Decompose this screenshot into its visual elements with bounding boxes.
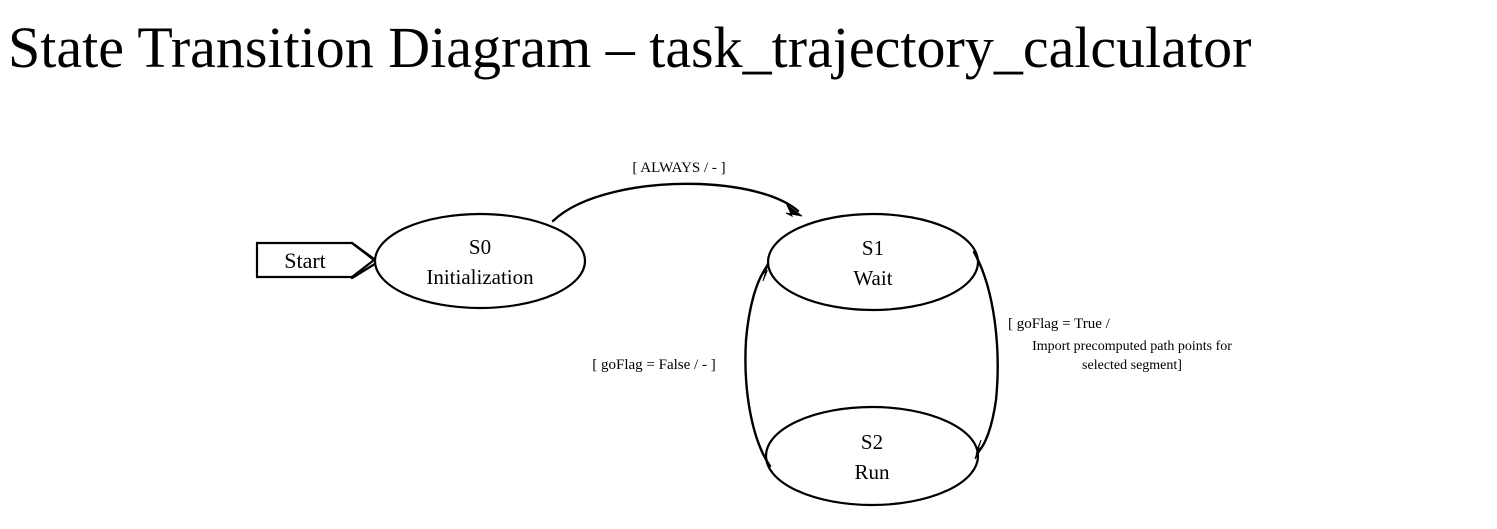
state-node-s2-shape <box>766 407 978 505</box>
state-diagram-page: State Transition Diagram – task_trajecto… <box>0 0 1497 529</box>
state-node-s2-name: S2 <box>861 430 883 454</box>
state-node-s0-shape <box>375 214 585 308</box>
transition-s1-to-s2-path <box>974 252 998 453</box>
state-node-s1-description: Wait <box>853 266 892 290</box>
state-node-s0-name: S0 <box>469 235 491 259</box>
state-node-s2[interactable]: S2 Run <box>766 407 978 505</box>
transition-s2-to-s1-path <box>745 268 770 466</box>
transition-s2-to-s1-arrowhead <box>761 261 769 281</box>
transition-s2-to-s1-label: [ goFlag = False / - ] <box>592 357 715 373</box>
state-node-s0-description: Initialization <box>426 265 534 289</box>
transition-s2-to-s1[interactable]: [ goFlag = False / - ] <box>592 261 770 466</box>
transition-s0-to-s1-path <box>553 184 798 221</box>
start-node[interactable]: Start <box>257 243 374 277</box>
state-diagram-canvas: Start S0 Initialization S1 Wait S2 Run <box>0 0 1497 529</box>
state-node-s0[interactable]: S0 Initialization <box>375 214 585 308</box>
state-node-s2-description: Run <box>854 460 890 484</box>
transition-s1-to-s2-label-line-2: Import precomputed path points for <box>1032 339 1232 354</box>
state-node-s1[interactable]: S1 Wait <box>768 214 978 310</box>
transition-s1-to-s2[interactable]: [ goFlag = True / Import precomputed pat… <box>974 252 1232 459</box>
state-node-s1-name: S1 <box>862 236 884 260</box>
transition-s0-to-s1-label: [ ALWAYS / - ] <box>632 160 725 176</box>
transition-s0-to-s1[interactable]: [ ALWAYS / - ] <box>553 160 802 221</box>
transition-s1-to-s2-label-line-3: selected segment] <box>1082 358 1182 373</box>
start-node-label: Start <box>284 248 326 273</box>
state-node-s1-shape <box>768 214 978 310</box>
transition-s1-to-s2-label-line-1: [ goFlag = True / <box>1008 316 1111 332</box>
